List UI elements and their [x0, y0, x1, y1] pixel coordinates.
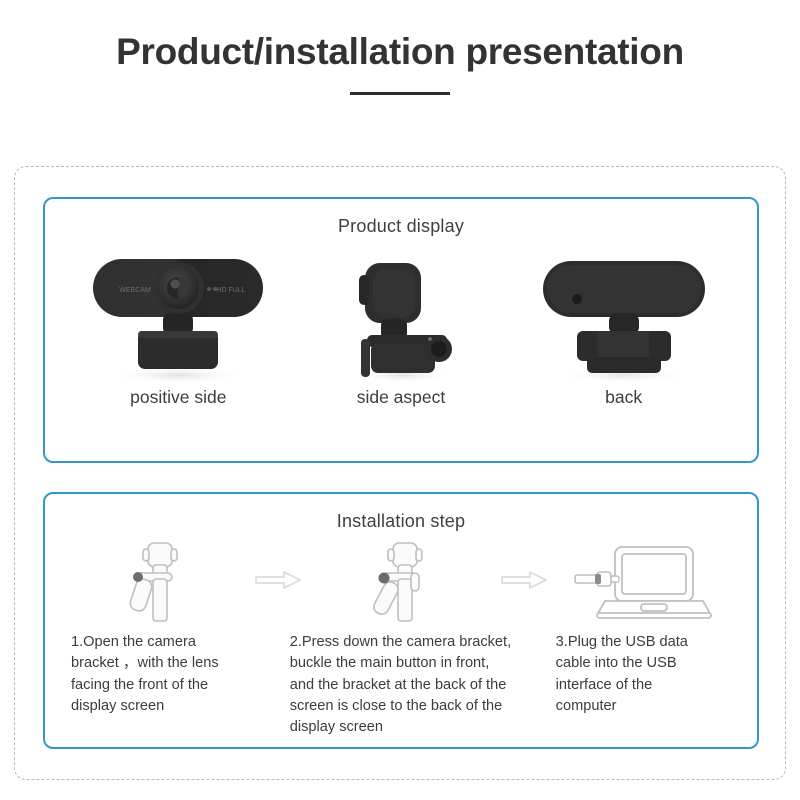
step-1-text: 1.Open the camera bracket ，with the lens…	[71, 632, 280, 738]
title-underline-rule	[350, 92, 450, 95]
title-block: Product/installation presentation	[0, 0, 800, 95]
step3-laptop-usb-icon	[559, 535, 733, 625]
product-cell-side	[293, 247, 508, 387]
step1-bracket-open-icon	[69, 535, 243, 625]
product-caption-row: positive side side aspect back	[45, 387, 757, 408]
caption-side-aspect: side aspect	[293, 387, 508, 408]
arrow-right-icon	[254, 569, 302, 591]
page-title: Product/installation presentation	[0, 32, 800, 73]
installation-heading: Installation step	[45, 494, 757, 532]
arrow-right-icon	[500, 569, 548, 591]
installation-icon-row	[45, 532, 757, 624]
product-cell-back	[516, 247, 731, 387]
step-3-text: 3.Plug the USB data cable into the USB i…	[556, 632, 739, 738]
webcam-side-icon	[293, 247, 508, 387]
step-2-text: 2.Press down the camera bracket, buckle …	[290, 632, 542, 738]
webcam-front-icon: WEBCAM HD FULL	[71, 247, 286, 387]
caption-positive-side: positive side	[71, 387, 286, 408]
webcam-back-icon	[516, 247, 731, 387]
caption-back: back	[516, 387, 731, 408]
installation-step-panel: Installation step	[43, 492, 759, 749]
installation-steps-text-row: 1.Open the camera bracket ，with the lens…	[45, 624, 757, 738]
webcam-brand-label: WEBCAM	[120, 287, 152, 294]
arrow-1-cell	[243, 569, 314, 591]
product-presentation-page: Product/installation presentation Produc…	[0, 0, 800, 800]
product-cell-front: WEBCAM HD FULL	[71, 247, 286, 387]
product-image-row: WEBCAM HD FULL	[45, 237, 757, 387]
webcam-hd-label: HD FULL	[217, 287, 246, 294]
product-display-heading: Product display	[45, 199, 757, 237]
usb-plug-icon	[575, 572, 619, 586]
product-display-panel: Product display	[43, 197, 759, 463]
dashed-content-container: Product display	[14, 166, 786, 780]
arrow-2-cell	[488, 569, 559, 591]
step2-bracket-closed-icon	[314, 535, 488, 625]
